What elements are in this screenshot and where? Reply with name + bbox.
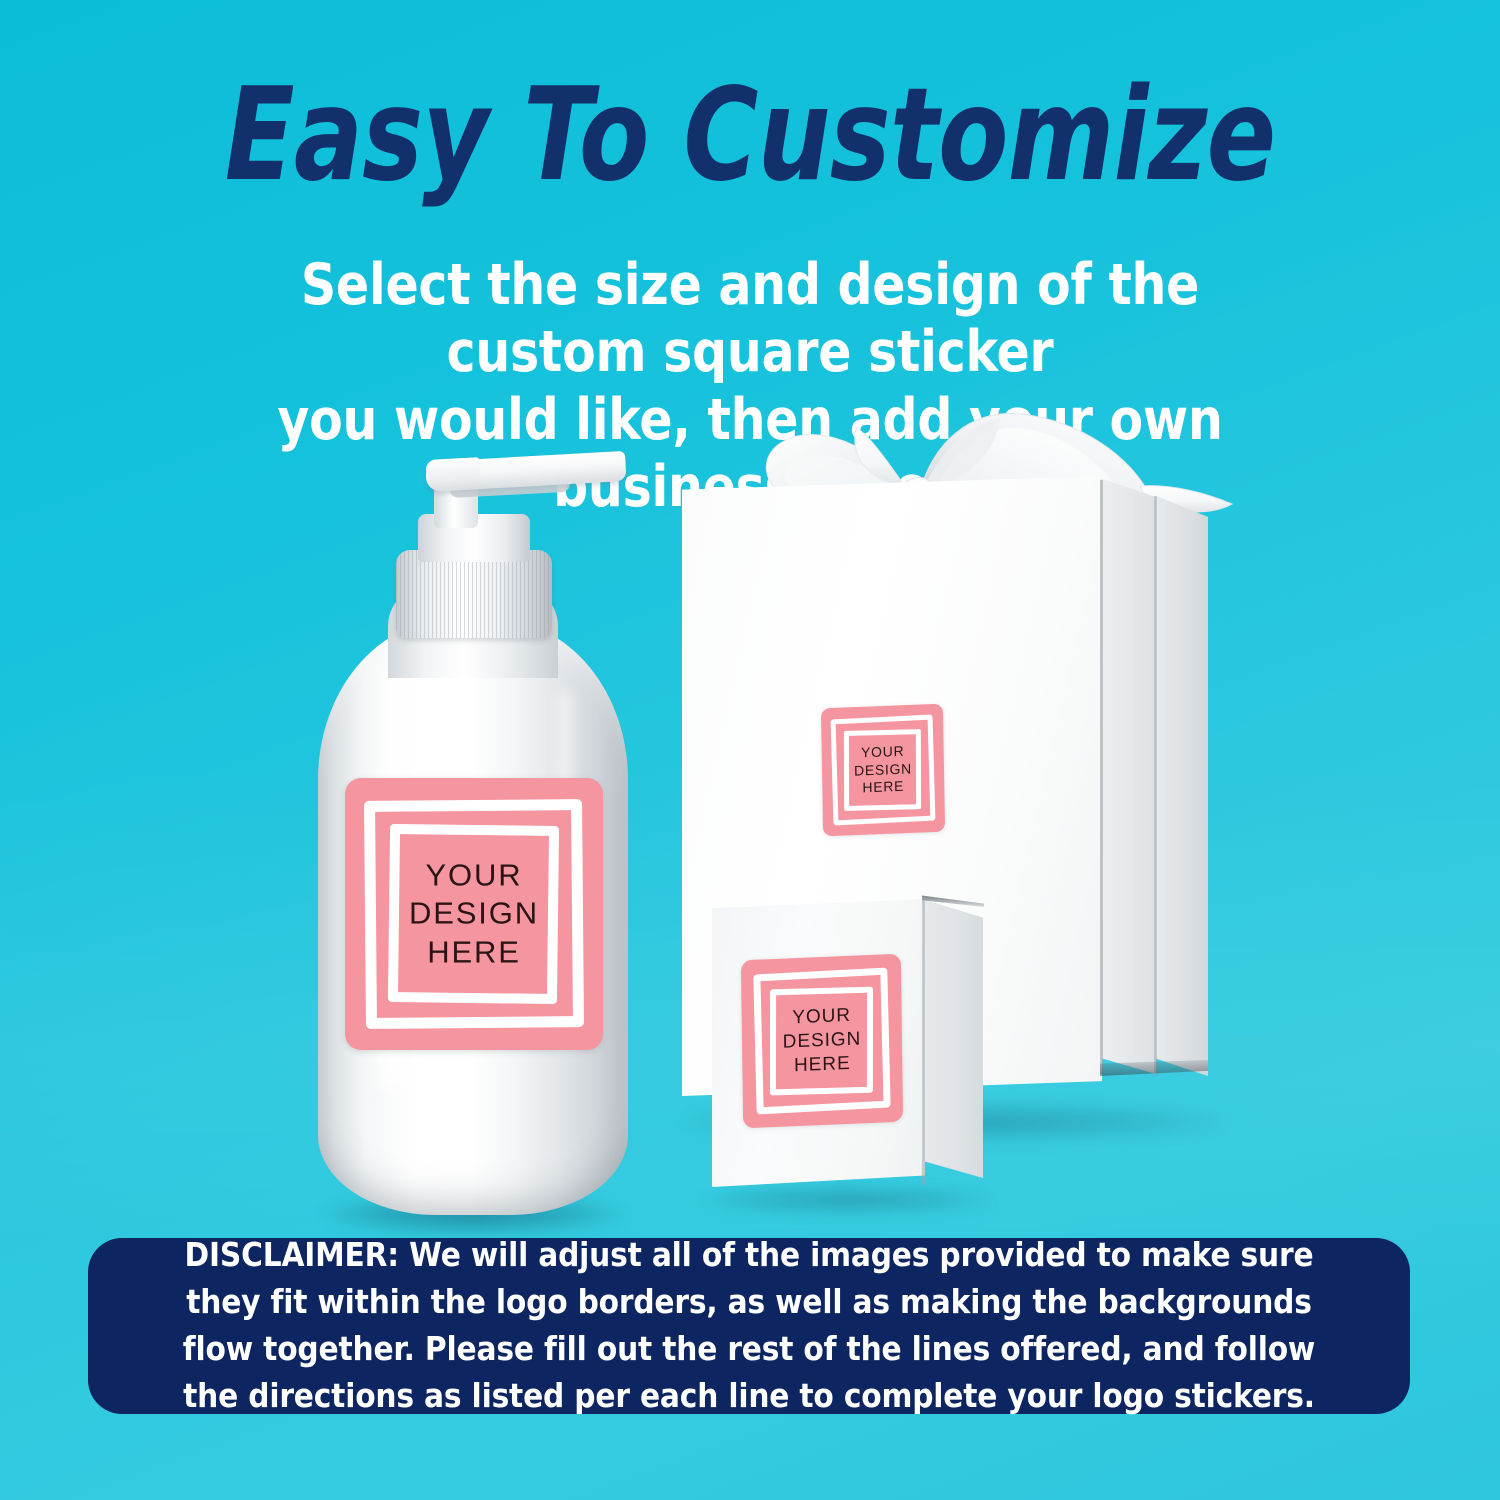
- small-box-ground-shadow: [706, 1187, 991, 1213]
- marketing-banner: Easy To Customize Select the size and de…: [0, 0, 1500, 1500]
- small-box-edge-line: [922, 897, 925, 1185]
- disclaimer-panel: DISCLAIMER: We will adjust all of the im…: [88, 1238, 1410, 1414]
- pump-nozzle-lip: [425, 457, 480, 480]
- small-box-side-face: [923, 895, 983, 1178]
- gift-box-lid-edge-line: [1154, 496, 1157, 1076]
- sticker-on-bottle[interactable]: YOUR DESIGN HERE: [345, 778, 603, 1050]
- small-product-box-mockup: YOUR DESIGN HERE: [700, 885, 1000, 1205]
- bottle-ribbed-collar: [396, 550, 552, 638]
- sticker-on-small-box[interactable]: YOUR DESIGN HERE: [741, 954, 903, 1129]
- disclaimer-text: DISCLAIMER: We will adjust all of the im…: [178, 1232, 1319, 1419]
- pump-bottle-mockup: YOUR DESIGN HERE: [300, 440, 650, 1230]
- gift-box-lid-side-face: [1156, 496, 1208, 1076]
- disclaimer-prefix: DISCLAIMER:: [185, 1235, 399, 1274]
- sticker-label-gift-box: YOUR DESIGN HERE: [822, 741, 945, 799]
- gift-box-side-face: [1100, 478, 1156, 1074]
- sticker-label-bottle: YOUR DESIGN HERE: [345, 856, 603, 971]
- gift-box-edge-line: [1100, 480, 1103, 1074]
- page-title: Easy To Customize: [150, 72, 1350, 200]
- sticker-on-gift-box[interactable]: YOUR DESIGN HERE: [821, 704, 945, 837]
- sticker-label-small-box: YOUR DESIGN HERE: [742, 1002, 903, 1081]
- page-subtitle-line-1: Select the size and design of the custom…: [208, 252, 1292, 387]
